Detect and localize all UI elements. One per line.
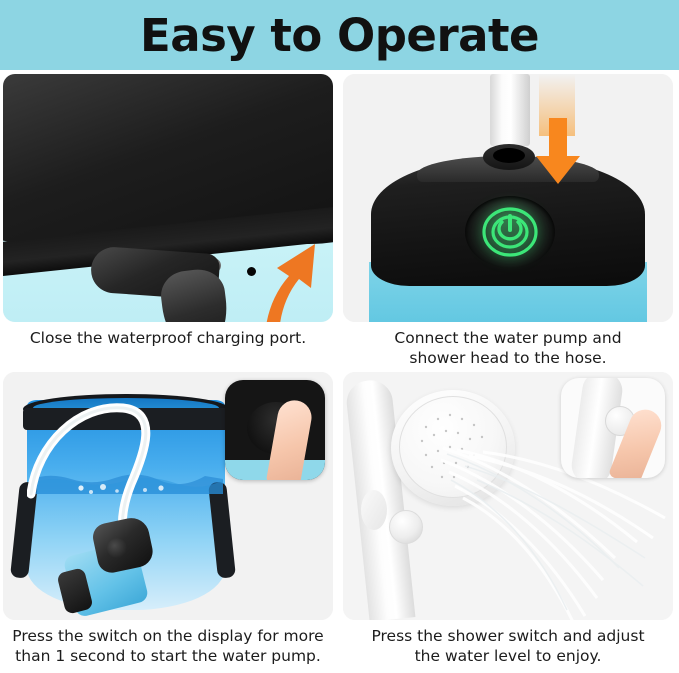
hose [27, 398, 207, 538]
step-2-image [343, 74, 673, 322]
hose-nozzle-opening [493, 148, 525, 163]
step-1-caption: Close the waterproof charging port. [3, 329, 333, 349]
handle-nub [361, 490, 387, 530]
step-3-caption-line-1: Press the switch on the display for more [3, 627, 333, 647]
step-card-3: Press the switch on the display for more… [3, 372, 337, 668]
step-3-image [3, 372, 333, 620]
step-3-caption: Press the switch on the display for more… [3, 627, 333, 667]
steps-grid: Close the waterproof charging port. [0, 70, 679, 673]
step-4-caption: Press the shower switch and adjust the w… [343, 627, 673, 667]
page-header: Easy to Operate [0, 0, 679, 70]
shower-switch[interactable] [389, 510, 423, 544]
arrow-down-icon [535, 118, 581, 184]
step-card-2: Connect the water pump and shower head t… [343, 74, 677, 370]
step-card-1: Close the waterproof charging port. [3, 74, 337, 370]
step-3-inset [225, 380, 325, 480]
power-button-icon[interactable] [481, 206, 539, 258]
step-1-image [3, 74, 333, 322]
step-2-caption-line-2: shower head to the hose. [343, 349, 673, 369]
step-2-caption-line-1: Connect the water pump and [343, 329, 673, 349]
step-4-caption-line-2: the water level to enjoy. [343, 647, 673, 667]
step-card-4: Press the shower switch and adjust the w… [343, 372, 677, 668]
step-4-caption-line-1: Press the shower switch and adjust [343, 627, 673, 647]
step-1-caption-line-1: Close the waterproof charging port. [3, 329, 333, 349]
step-3-caption-line-2: than 1 second to start the water pump. [3, 647, 333, 667]
curved-arrow-up-icon [249, 232, 329, 322]
step-4-inset [561, 378, 665, 478]
step-4-image [343, 372, 673, 620]
page-title: Easy to Operate [140, 13, 539, 58]
step-2-caption: Connect the water pump and shower head t… [343, 329, 673, 369]
white-hose [490, 74, 530, 146]
